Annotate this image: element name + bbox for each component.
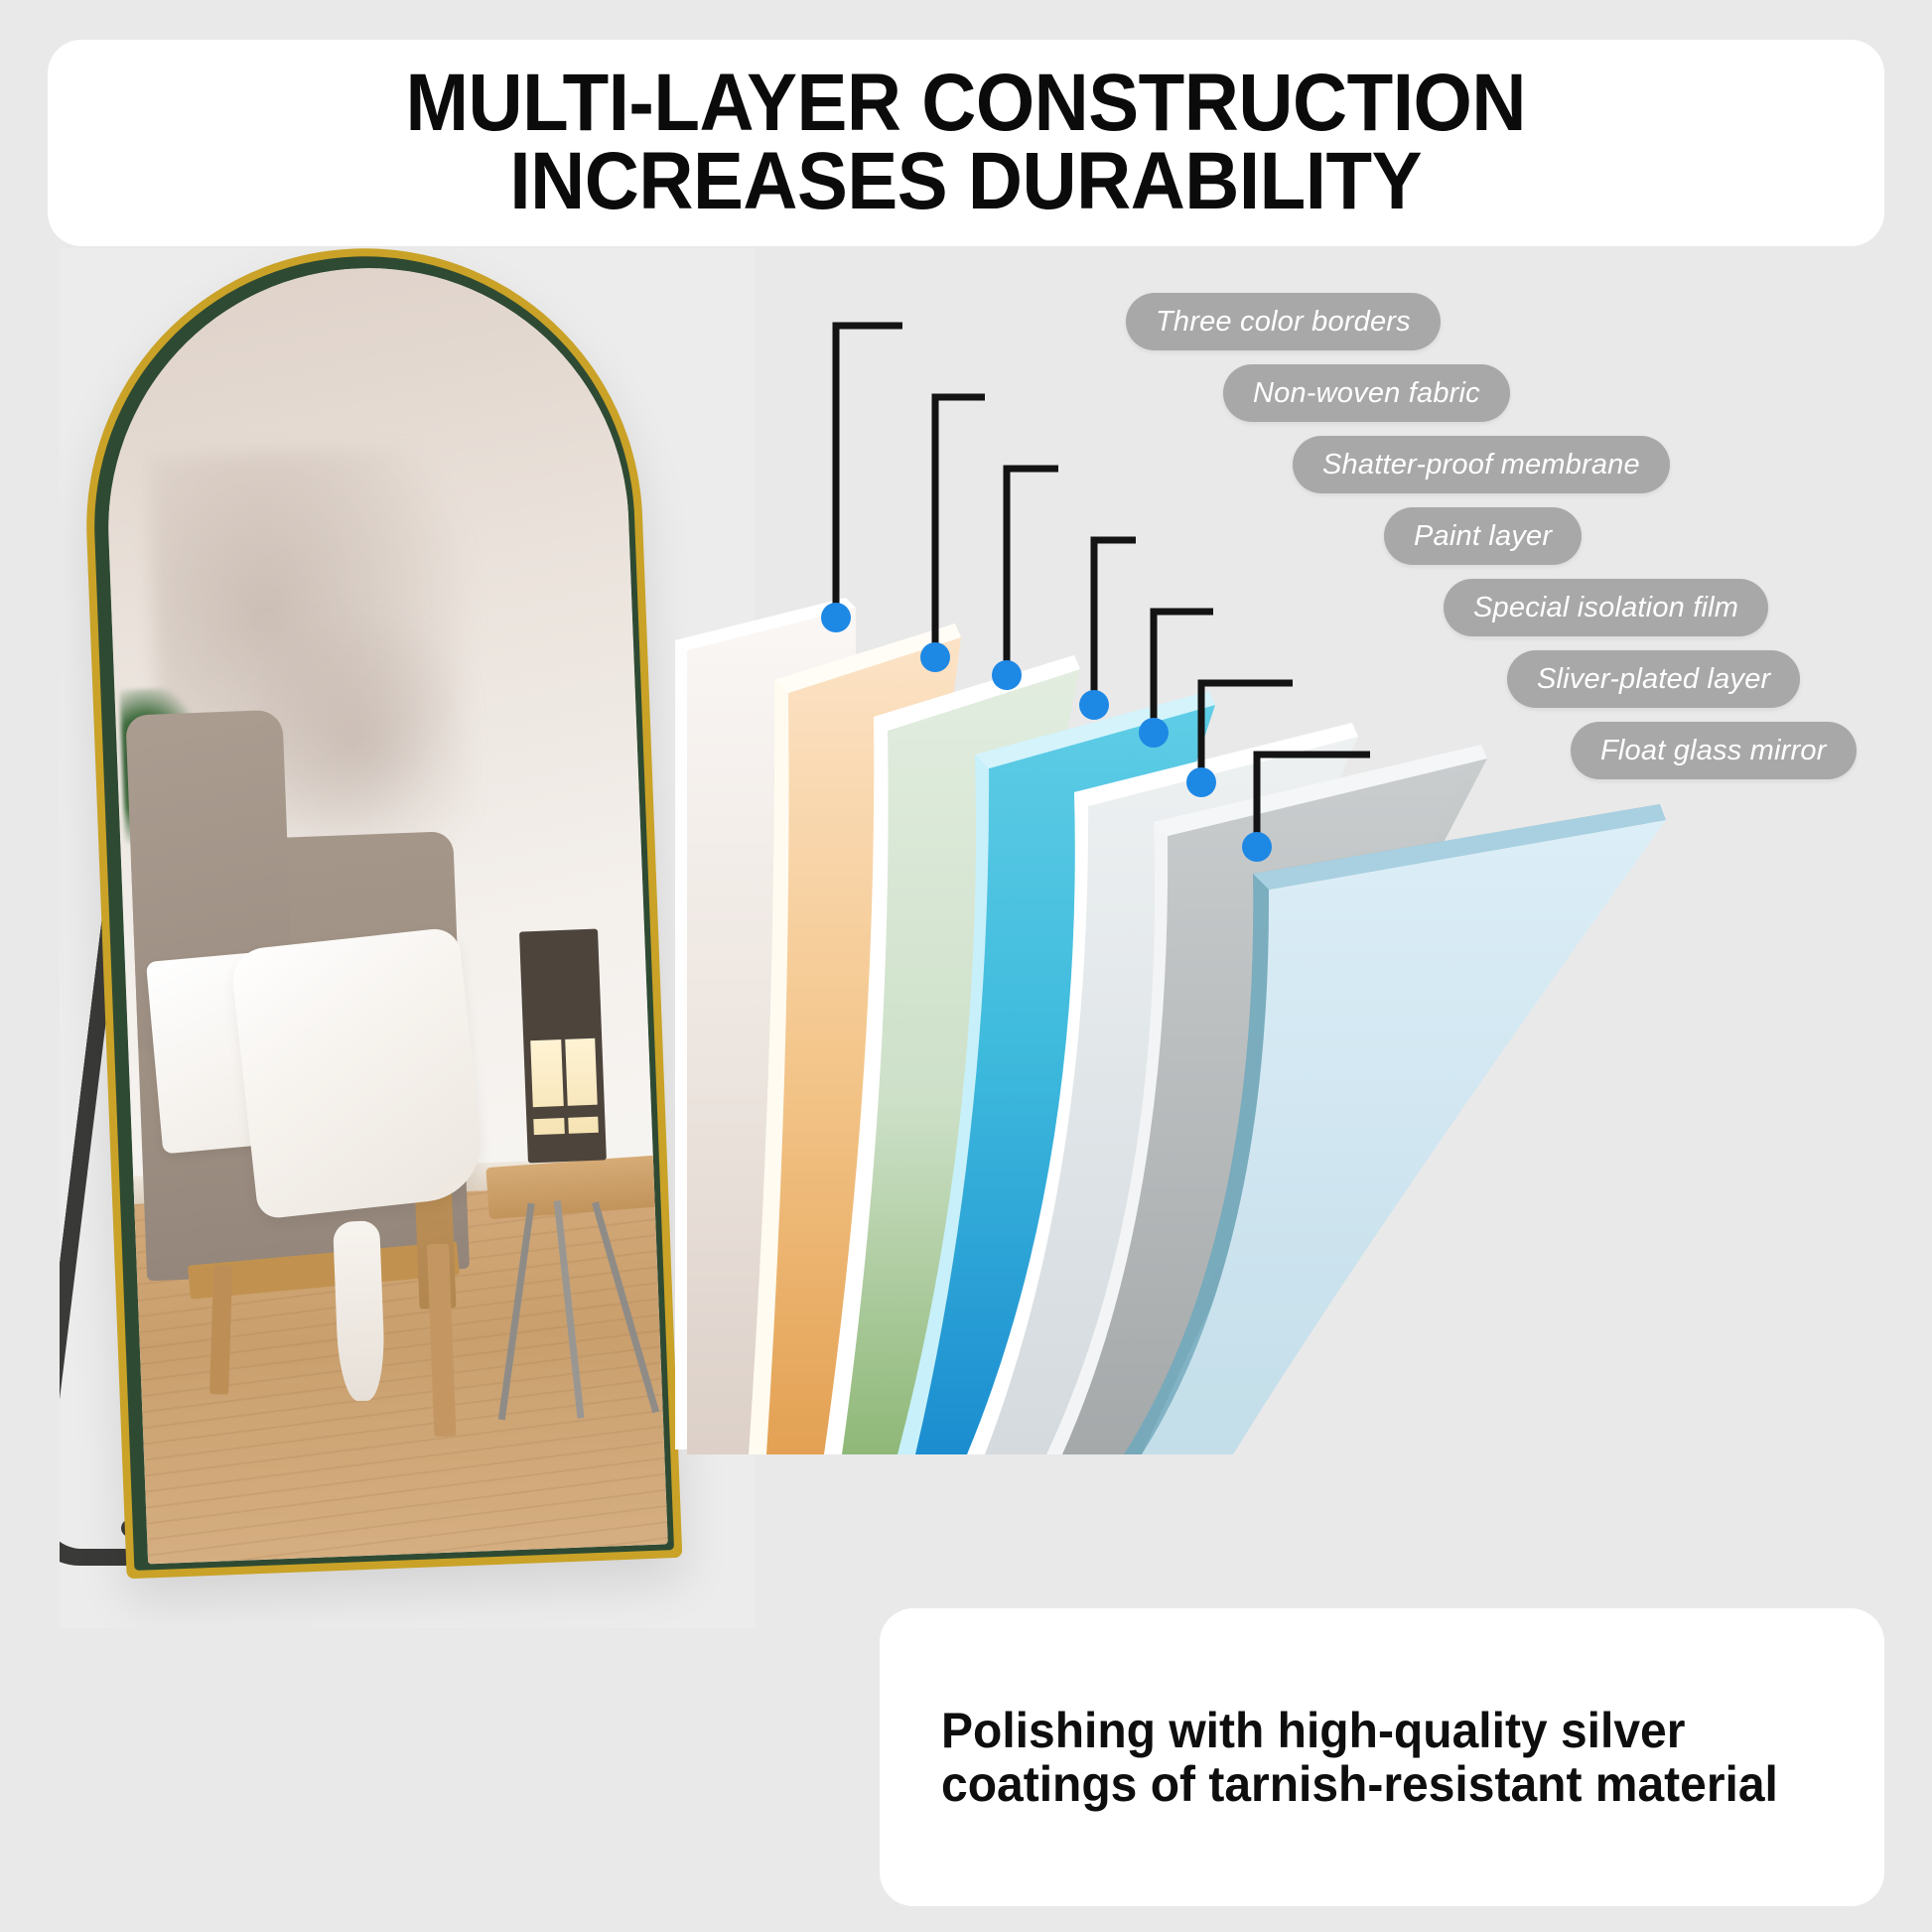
callout-label: Float glass mirror <box>1600 735 1827 767</box>
page-title: MULTI-LAYER CONSTRUCTION INCREASES DURAB… <box>406 65 1526 220</box>
callout-special-isolation-film[interactable]: Special isolation film <box>1444 579 1768 636</box>
callout-shatter-proof-membrane[interactable]: Shatter-proof membrane <box>1293 436 1670 493</box>
layer-dot-6 <box>1186 767 1216 797</box>
callout-three-color-borders[interactable]: Three color borders <box>1126 293 1441 350</box>
mirror-glass-surface <box>98 258 667 1564</box>
layer-dot-3 <box>992 660 1022 690</box>
arched-mirror-frame <box>76 248 683 1579</box>
caption-card: Polishing with high-quality silver coati… <box>880 1608 1884 1906</box>
product-photo <box>60 248 755 1628</box>
callout-label: Sliver-plated layer <box>1537 663 1770 696</box>
callout-label: Three color borders <box>1156 306 1411 339</box>
callout-paint-layer[interactable]: Paint layer <box>1384 507 1582 565</box>
title-card: MULTI-LAYER CONSTRUCTION INCREASES DURAB… <box>48 40 1884 246</box>
callout-label: Shatter-proof membrane <box>1322 449 1640 482</box>
mirror-inner-edge <box>84 248 674 1571</box>
callout-label: Non-woven fabric <box>1253 377 1480 410</box>
layer-dot-1 <box>821 603 851 632</box>
callout-label: Special isolation film <box>1473 592 1738 624</box>
layer-stack-svg <box>657 248 1888 1539</box>
callout-float-glass-mirror[interactable]: Float glass mirror <box>1571 722 1857 779</box>
reflected-throw-blanket <box>230 926 487 1219</box>
callout-sliver-plated-layer[interactable]: Sliver-plated layer <box>1507 650 1800 708</box>
layer-dot-4 <box>1079 690 1109 720</box>
callout-non-woven-fabric[interactable]: Non-woven fabric <box>1223 364 1510 422</box>
layer-stack-diagram <box>657 248 1888 1539</box>
layer-dot-2 <box>920 642 950 672</box>
caption-text: Polishing with high-quality silver coati… <box>941 1704 1778 1811</box>
reflected-table-lamp <box>519 929 606 1164</box>
infographic-canvas: MULTI-LAYER CONSTRUCTION INCREASES DURAB… <box>0 0 1932 1932</box>
callout-label: Paint layer <box>1414 520 1552 553</box>
layer-dot-7 <box>1242 832 1272 862</box>
layer-dot-5 <box>1139 718 1169 748</box>
